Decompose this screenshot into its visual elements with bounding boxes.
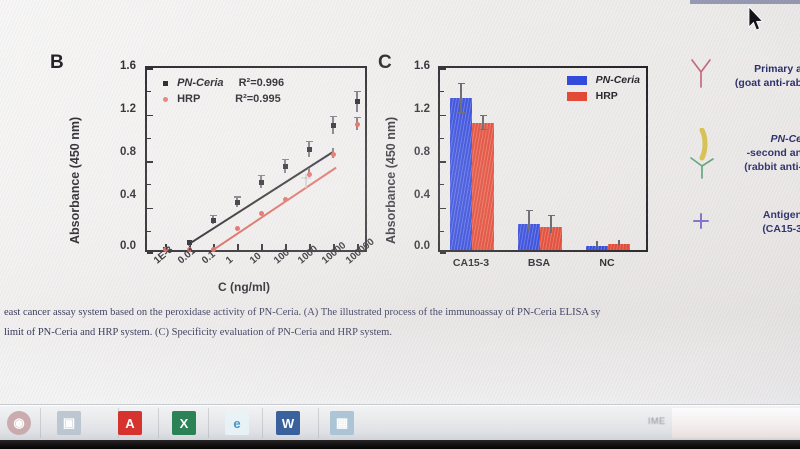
media-player-icon[interactable]: ◉: [7, 411, 31, 435]
error-cap: [234, 196, 241, 197]
error-cap: [354, 117, 361, 118]
legend-swatch-blue-icon: [567, 76, 587, 85]
taskbar-ime-indicator[interactable]: IME: [648, 416, 666, 426]
schematic-label-2: Antigen (CA15-3: [762, 208, 800, 236]
error-bar: [596, 241, 597, 247]
panel-b-fit-line-pn-ceria: [189, 151, 333, 244]
panel-c-ytickmark: [440, 68, 446, 70]
taskbar-separator: [318, 408, 319, 438]
error-cap: [282, 159, 289, 160]
data-point: [211, 218, 216, 223]
panel-b-ytickmark: [147, 208, 153, 210]
mouse-cursor-icon: [748, 6, 764, 32]
panel-c-ytick-3: 1.2: [400, 103, 430, 115]
panel-c-plot-area: PN-Ceria HRP: [438, 66, 648, 252]
panel-b-ytickmark-minor: [147, 91, 151, 92]
panel-b-legend-label-1: HRP: [177, 93, 200, 105]
error-cap: [458, 83, 465, 84]
panel-b-ytickmark: [147, 161, 153, 163]
bar-value: [450, 98, 472, 250]
error-bar: [618, 240, 619, 245]
panel-b-xtick-4: 10: [248, 251, 264, 267]
panel-b-ytickmark-minor: [147, 138, 151, 139]
taskbar-separator: [262, 408, 263, 438]
panel-b-xtick-3: 1: [224, 254, 235, 266]
error-cap: [480, 129, 487, 130]
windows-taskbar[interactable]: ◉ ▣ A X e W ▦ IME: [0, 404, 800, 441]
bar-value: [472, 123, 494, 250]
panel-b-legend-item-pn-ceria: PN-Ceria R²=0.996: [163, 77, 284, 89]
error-cap: [210, 215, 217, 216]
panel-b-ytick-4: 1.6: [106, 60, 136, 72]
panel-c-ytick-4: 1.6: [400, 60, 430, 72]
data-point: [235, 200, 240, 205]
panel-c-xcat-1: BSA: [506, 257, 572, 269]
panel-c-xcat-0: CA15-3: [438, 257, 504, 269]
error-cap: [526, 210, 533, 211]
panel-c-ytick-0: 0.0: [400, 240, 430, 252]
data-point: [259, 211, 264, 216]
panel-b-plot-area: PN-Ceria R²=0.996 HRP R²=0.995: [145, 66, 367, 252]
error-cap: [548, 215, 555, 216]
panel-c-ytickmark-minor: [440, 184, 444, 185]
error-bar: [528, 211, 529, 231]
panel-c-letter: C: [378, 52, 392, 74]
error-cap: [258, 175, 265, 176]
legend-swatch-red-icon: [567, 92, 587, 101]
panel-c: C Absorbance (450 nm) 1.6 1.2 0.8 0.4 0.…: [378, 46, 678, 296]
pn-ceria-secondary-antibody-icon: [686, 128, 718, 180]
panel-b-ytickmark: [147, 252, 153, 254]
error-cap: [480, 115, 487, 116]
excel-icon[interactable]: X: [172, 411, 196, 435]
panel-c-ytickmark: [440, 252, 446, 254]
schematic-label-1: PN-Ce -second an (rabbit anti-: [744, 132, 800, 175]
panel-b-ytickmark: [147, 68, 153, 70]
panel-c-legend-item-hrp: HRP: [567, 90, 640, 102]
panel-c-ytick-2: 0.8: [400, 146, 430, 158]
panel-b-ytickmark-minor: [147, 184, 151, 185]
photographed-screen: B Absorbance (450 nm) 1.6 1.2 0.8 0.4 0.…: [0, 0, 800, 449]
panel-b-ytickmark: [147, 115, 153, 117]
data-point: [331, 152, 336, 157]
panel-c-ytickmark-minor: [440, 91, 444, 92]
panel-b-letter: B: [50, 52, 64, 74]
panel-b-xtickmark: [261, 244, 263, 250]
panel-b-ytick-1: 0.4: [106, 189, 136, 201]
panel-b: B Absorbance (450 nm) 1.6 1.2 0.8 0.4 0.…: [50, 46, 370, 296]
legend-square-marker-icon: [163, 81, 168, 86]
panel-c-xcat-2: NC: [574, 257, 640, 269]
schematic-label-0: Primary a (goat anti-rab: [735, 62, 800, 90]
taskbar-notification-area[interactable]: [672, 408, 800, 438]
panel-b-ytick-3: 1.2: [106, 103, 136, 115]
figure-caption: east cancer assay system based on the pe…: [0, 303, 800, 344]
data-point: [283, 164, 288, 169]
panel-b-xtickmark: [237, 244, 239, 250]
data-point: [355, 99, 360, 104]
primary-antibody-y-icon: [688, 58, 714, 88]
monitor-bezel: [0, 440, 800, 449]
text-cursor-icon: [299, 173, 313, 189]
taskbar-separator: [208, 408, 209, 438]
error-cap: [330, 116, 337, 117]
panel-b-fit-line-hrp: [213, 166, 337, 250]
app-icon[interactable]: ▦: [330, 411, 354, 435]
data-point: [235, 226, 240, 231]
data-point: [355, 122, 360, 127]
data-point: [283, 197, 288, 202]
error-bar: [550, 216, 551, 233]
panel-c-legend-item-pn-ceria: PN-Ceria: [567, 74, 640, 86]
taskbar-separator: [158, 408, 159, 438]
panel-c-ytickmark-minor: [440, 138, 444, 139]
adobe-reader-icon[interactable]: A: [118, 411, 142, 435]
caption-line-2: limit of PN-Ceria and HRP system. (C) Sp…: [0, 323, 800, 343]
panel-b-ytickmark-minor: [147, 231, 151, 232]
panel-c-ytick-1: 0.4: [400, 189, 430, 201]
panel-b-legend-item-hrp: HRP R²=0.995: [163, 93, 281, 105]
panel-c-ylabel: Absorbance (450 nm): [384, 117, 398, 244]
error-cap: [458, 112, 465, 113]
data-point: [331, 123, 336, 128]
error-cap: [306, 141, 313, 142]
panel-b-legend-r2-0: R²=0.996: [239, 77, 285, 89]
panel-b-xlabel: C (ng/ml): [218, 280, 270, 294]
taskbar-separator: [40, 408, 41, 438]
panel-b-legend-label-0: PN-Ceria: [177, 77, 223, 89]
word-icon[interactable]: W: [276, 411, 300, 435]
data-point: [259, 180, 264, 185]
panel-c-legend-label-1: HRP: [596, 90, 618, 102]
panel-c-ytickmark: [440, 115, 446, 117]
photo-viewer-icon[interactable]: ▣: [57, 411, 81, 435]
panel-c-ytickmark: [440, 161, 446, 163]
panel-c-legend: PN-Ceria HRP: [567, 74, 640, 102]
caption-line-1: east cancer assay system based on the pe…: [0, 303, 800, 323]
panel-b-ytick-2: 0.8: [106, 146, 136, 158]
panel-c-ytickmark: [440, 208, 446, 210]
panel-b-ylabel: Absorbance (450 nm): [68, 117, 82, 244]
window-top-edge: [690, 0, 800, 4]
internet-explorer-icon[interactable]: e: [225, 411, 249, 435]
panel-c-ytickmark-minor: [440, 231, 444, 232]
error-cap: [354, 91, 361, 92]
panel-b-legend-r2-1: R²=0.995: [235, 93, 281, 105]
data-point: [307, 147, 312, 152]
antigen-cross-icon: [692, 212, 710, 230]
panel-b-ytick-0: 0.0: [106, 240, 136, 252]
panel-c-legend-label-0: PN-Ceria: [596, 74, 640, 86]
panel-a-schematic-legend: Primary a (goat anti-rab PN-Ce -second a…: [686, 50, 800, 290]
legend-circle-marker-icon: [163, 97, 168, 102]
error-bar: [460, 84, 461, 113]
